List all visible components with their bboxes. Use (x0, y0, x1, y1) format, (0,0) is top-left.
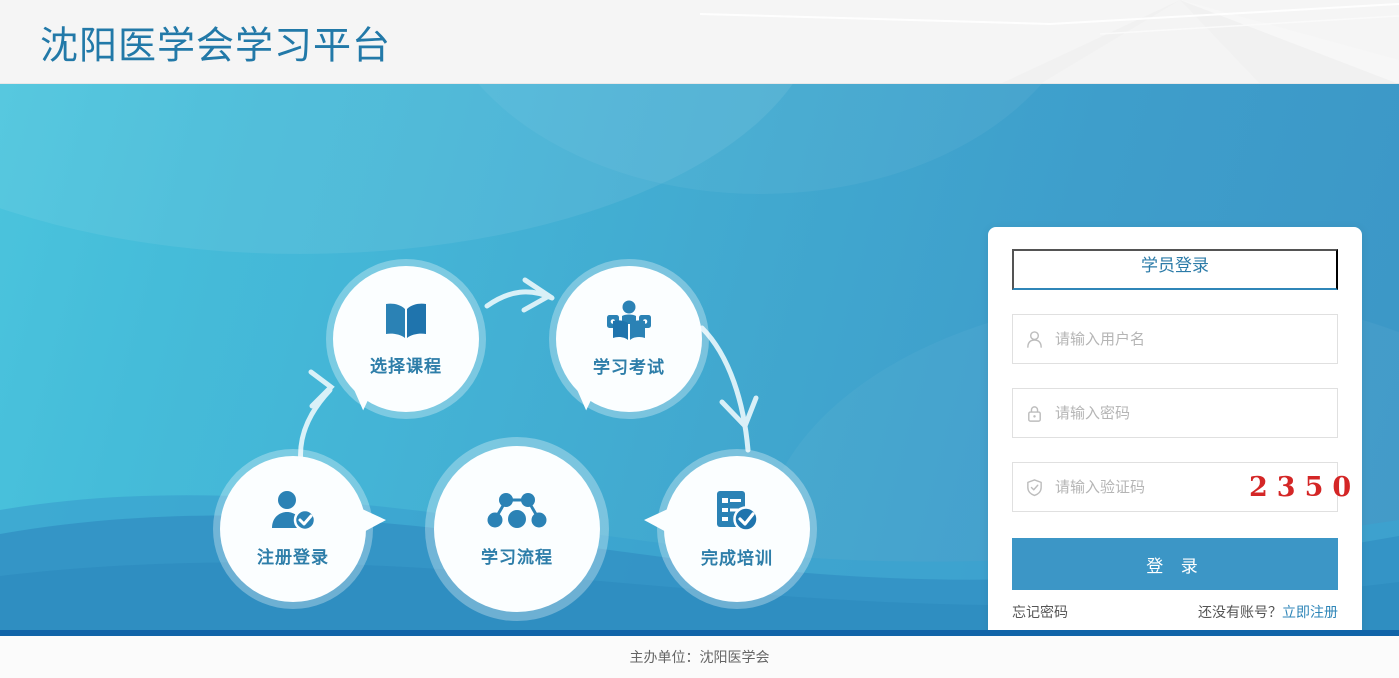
forgot-password-link[interactable]: 忘记密码 (1012, 602, 1068, 622)
user-icon (1013, 330, 1055, 349)
bubble-tail (570, 382, 597, 411)
bubble-tail (347, 382, 374, 411)
bubble-tail (644, 508, 670, 534)
hero-banner: 选择课程 (0, 84, 1399, 636)
person-reading-book-icon (603, 300, 655, 347)
flow-node-exam: 学习考试 (556, 266, 702, 412)
open-book-icon (382, 301, 430, 346)
flow-node-center: 学习流程 (434, 446, 600, 612)
register-now-link[interactable]: 立即注册 (1282, 605, 1338, 621)
captcha-input[interactable] (1055, 463, 1249, 511)
shield-check-icon (1013, 478, 1055, 497)
login-button[interactable]: 登 录 (1012, 538, 1338, 590)
footer-text: 主办单位：沈阳医学会 (630, 647, 770, 667)
lock-icon (1013, 404, 1055, 423)
login-panel: 学员登录 (988, 227, 1362, 636)
flow-node-finish: 完成培训 (664, 456, 810, 602)
user-check-icon (269, 490, 317, 537)
flow-node-label: 选择课程 (370, 352, 442, 377)
document-check-icon (713, 489, 761, 538)
flow-node-label: 完成培训 (701, 544, 773, 569)
username-field[interactable] (1012, 314, 1338, 364)
flow-node-label: 学习流程 (481, 543, 553, 568)
network-nodes-icon (485, 490, 549, 537)
register-prompt-text: 还没有账号？ (1198, 605, 1282, 621)
captcha-image[interactable]: 2350 (1249, 472, 1374, 503)
flow-node-label: 学习考试 (593, 353, 665, 378)
captcha-field[interactable]: 2350 (1012, 462, 1338, 512)
flow-node-label: 注册登录 (257, 543, 329, 568)
page-footer: 主办单位：沈阳医学会 (0, 636, 1399, 678)
tab-student-login[interactable]: 学员登录 (1012, 249, 1338, 290)
flow-node-register: 注册登录 (220, 456, 366, 602)
flow-node-course: 选择课程 (333, 266, 479, 412)
page-header: 沈阳医学会学习平台 (0, 0, 1399, 84)
password-input[interactable] (1055, 389, 1337, 437)
learning-flow-diagram: 选择课程 (0, 84, 900, 636)
register-prompt-wrap: 还没有账号？立即注册 (1198, 602, 1338, 622)
login-links: 忘记密码 还没有账号？立即注册 (1012, 602, 1338, 622)
password-field[interactable] (1012, 388, 1338, 438)
login-tabs: 学员登录 (1012, 227, 1338, 290)
bubble-tail (360, 508, 386, 534)
username-input[interactable] (1055, 315, 1337, 363)
login-page: 沈阳医学会学习平台 (0, 0, 1399, 678)
page-title: 沈阳医学会学习平台 (40, 14, 391, 69)
